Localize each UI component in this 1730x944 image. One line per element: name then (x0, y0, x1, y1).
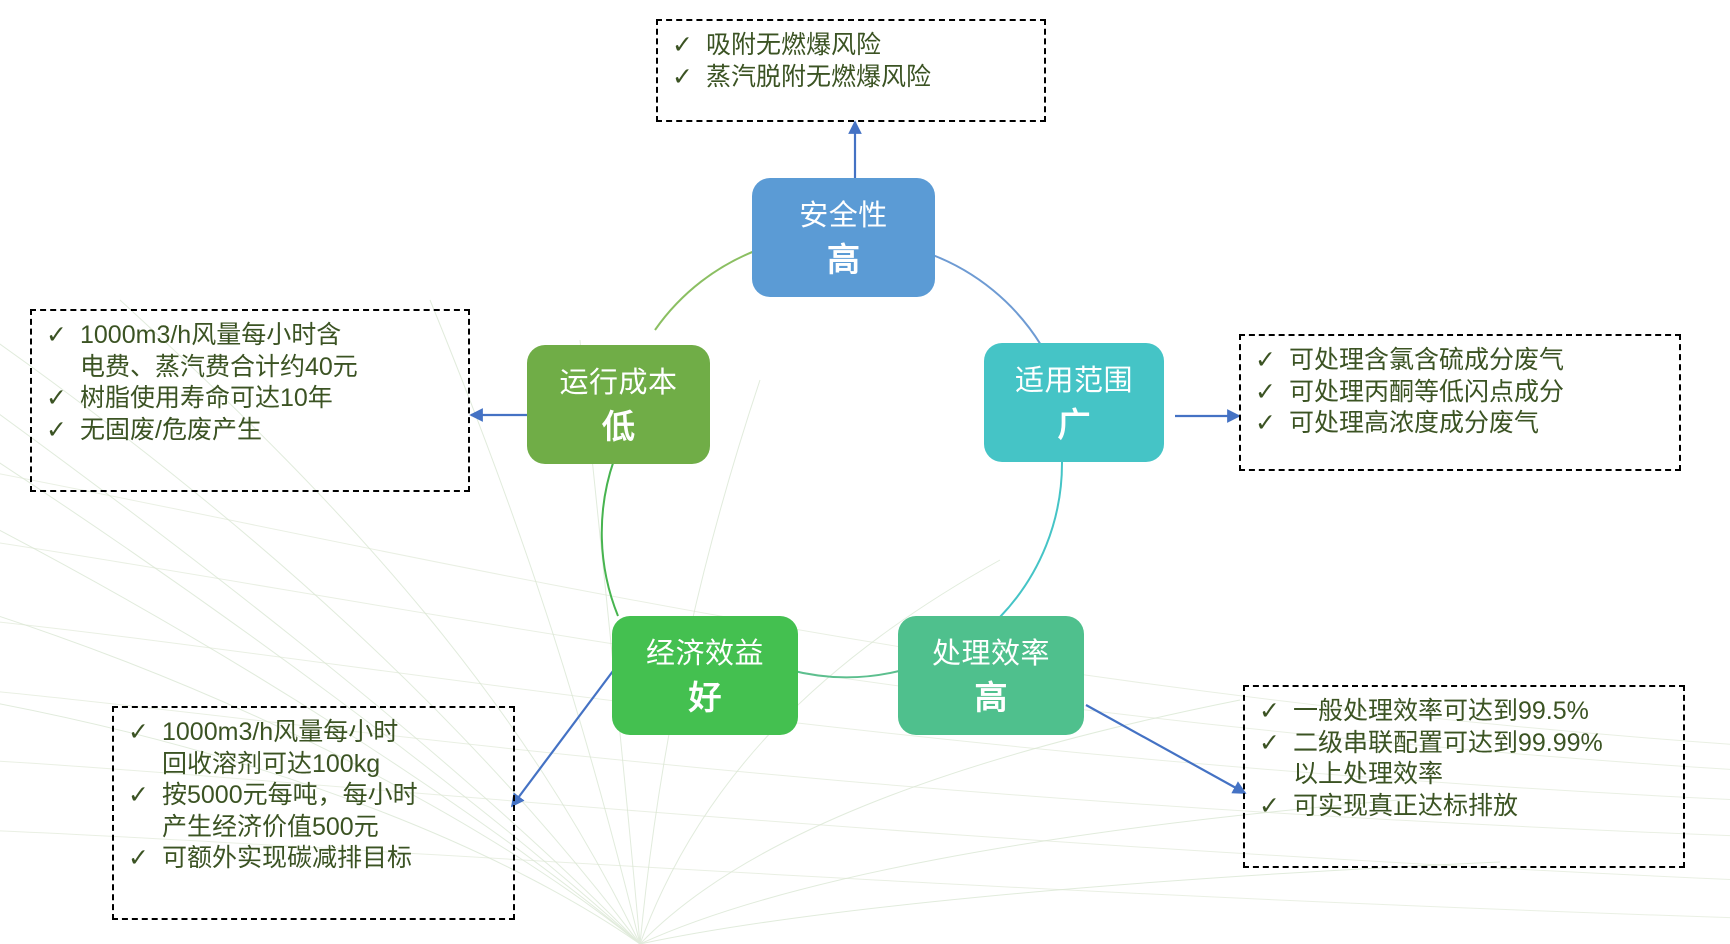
check-icon: ✓ (46, 383, 80, 415)
callout-item-text: 电费、蒸汽费合计约40元 (80, 352, 456, 384)
callout-item: ✓ 一般处理效率可达到99.5% (1259, 696, 1671, 728)
callout-item: ✓ 可处理丙酮等低闪点成分 (1255, 377, 1667, 409)
check-icon-placeholder: ✓ (128, 812, 162, 844)
callout-item-continuation: ✓ 回收溶剂可达100kg (128, 749, 501, 781)
node-efficiency[interactable]: 处理效率 高 (898, 616, 1084, 735)
callout-item-text: 以上处理效率 (1293, 759, 1671, 791)
diagram-canvas: 安全性 高 适用范围 广 处理效率 高 经济效益 好 运行成本 低 ✓ 吸附无燃… (0, 0, 1730, 944)
arrow-economics-to-callout (512, 671, 613, 806)
callout-item-text: 可实现真正达标排放 (1293, 791, 1671, 823)
callout-item-text: 吸附无燃爆风险 (706, 30, 1032, 62)
arc-cost-safety (655, 249, 760, 330)
callout-item-text: 可额外实现碳减排目标 (162, 843, 501, 875)
callout-efficiency: ✓ 一般处理效率可达到99.5% ✓ 二级串联配置可达到99.99% ✓ 以上处… (1243, 685, 1685, 868)
check-icon: ✓ (1255, 345, 1289, 377)
check-icon: ✓ (46, 320, 80, 352)
callout-item-text: 蒸汽脱附无燃爆风险 (706, 62, 1032, 94)
callout-item-text: 回收溶剂可达100kg (162, 749, 501, 781)
callout-item: ✓ 1000m3/h风量每小时含 (46, 320, 456, 352)
callout-item-text: 1000m3/h风量每小时 (162, 717, 501, 749)
callout-item-text: 可处理高浓度成分废气 (1289, 408, 1667, 440)
node-efficiency-value: 高 (975, 680, 1008, 717)
check-icon: ✓ (1255, 408, 1289, 440)
callout-cost: ✓ 1000m3/h风量每小时含 ✓ 电费、蒸汽费合计约40元 ✓ 树脂使用寿命… (30, 309, 470, 492)
check-icon-placeholder: ✓ (128, 749, 162, 781)
check-icon: ✓ (128, 780, 162, 812)
callout-item-text: 可处理丙酮等低闪点成分 (1289, 377, 1667, 409)
callout-item: ✓ 可处理含氯含硫成分废气 (1255, 345, 1667, 377)
arc-scope-efficiency (1000, 462, 1062, 617)
callout-item-text: 按5000元每吨，每小时 (162, 780, 501, 812)
check-icon: ✓ (1259, 728, 1293, 760)
node-safety[interactable]: 安全性 高 (752, 178, 935, 297)
check-icon: ✓ (1259, 791, 1293, 823)
callout-item-text: 可处理含氯含硫成分废气 (1289, 345, 1667, 377)
node-scope-value: 广 (1058, 407, 1091, 444)
callout-item: ✓ 可处理高浓度成分废气 (1255, 408, 1667, 440)
arrow-efficiency-to-callout (1086, 705, 1245, 793)
callout-item-text: 产生经济价值500元 (162, 812, 501, 844)
node-cost-value: 低 (602, 409, 635, 446)
node-scope[interactable]: 适用范围 广 (984, 343, 1164, 462)
callout-item-text: 无固废/危废产生 (80, 415, 456, 447)
check-icon-placeholder: ✓ (46, 352, 80, 384)
callout-item: ✓ 吸附无燃爆风险 (672, 30, 1032, 62)
callout-item-text: 一般处理效率可达到99.5% (1293, 696, 1671, 728)
node-safety-title: 安全性 (799, 200, 888, 232)
callout-safety: ✓ 吸附无燃爆风险 ✓ 蒸汽脱附无燃爆风险 (656, 19, 1046, 122)
arc-safety-scope (930, 254, 1041, 345)
arc-efficiency-economics (790, 670, 903, 677)
callout-item: ✓ 1000m3/h风量每小时 (128, 717, 501, 749)
callout-item-text: 1000m3/h风量每小时含 (80, 320, 456, 352)
callout-item: ✓ 蒸汽脱附无燃爆风险 (672, 62, 1032, 94)
callout-item-text: 二级串联配置可达到99.99% (1293, 728, 1671, 760)
arc-economics-cost (602, 460, 618, 616)
check-icon: ✓ (128, 717, 162, 749)
callout-economics: ✓ 1000m3/h风量每小时 ✓ 回收溶剂可达100kg ✓ 按5000元每吨… (112, 706, 515, 920)
callout-item-continuation: ✓ 以上处理效率 (1259, 759, 1671, 791)
node-cost[interactable]: 运行成本 低 (527, 345, 710, 464)
check-icon: ✓ (672, 30, 706, 62)
callout-item: ✓ 二级串联配置可达到99.99% (1259, 728, 1671, 760)
node-economics-title: 经济效益 (646, 638, 764, 670)
callout-item: ✓ 树脂使用寿命可达10年 (46, 383, 456, 415)
callout-item: ✓ 无固废/危废产生 (46, 415, 456, 447)
callout-item: ✓ 可实现真正达标排放 (1259, 791, 1671, 823)
check-icon: ✓ (672, 62, 706, 94)
check-icon: ✓ (1255, 377, 1289, 409)
node-scope-title: 适用范围 (1015, 365, 1133, 397)
node-efficiency-title: 处理效率 (932, 638, 1050, 670)
callout-item-continuation: ✓ 电费、蒸汽费合计约40元 (46, 352, 456, 384)
callout-scope: ✓ 可处理含氯含硫成分废气 ✓ 可处理丙酮等低闪点成分 ✓ 可处理高浓度成分废气 (1239, 334, 1681, 471)
node-cost-title: 运行成本 (559, 367, 677, 399)
check-icon-placeholder: ✓ (1259, 759, 1293, 791)
callout-item: ✓ 可额外实现碳减排目标 (128, 843, 501, 875)
check-icon: ✓ (1259, 696, 1293, 728)
node-economics-value: 好 (689, 680, 722, 717)
callout-item-continuation: ✓ 产生经济价值500元 (128, 812, 501, 844)
node-economics[interactable]: 经济效益 好 (612, 616, 798, 735)
node-safety-value: 高 (827, 242, 860, 279)
check-icon: ✓ (46, 415, 80, 447)
callout-item-text: 树脂使用寿命可达10年 (80, 383, 456, 415)
callout-item: ✓ 按5000元每吨，每小时 (128, 780, 501, 812)
check-icon: ✓ (128, 843, 162, 875)
